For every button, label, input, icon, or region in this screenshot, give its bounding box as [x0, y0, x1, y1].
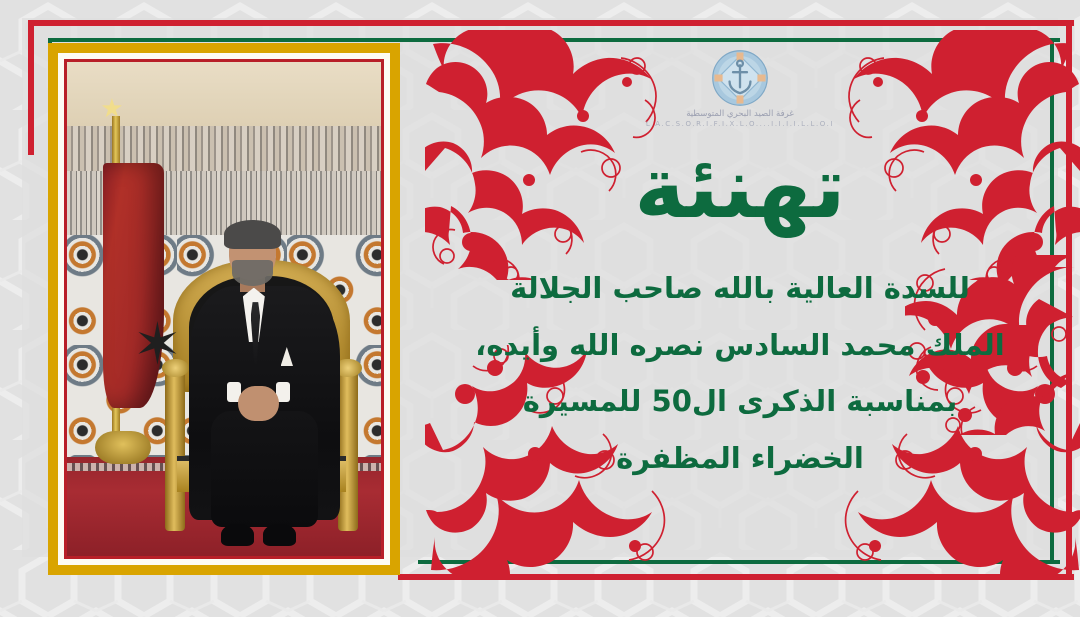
figure-shoe-right	[263, 524, 296, 546]
greeting-line-2: الملك محمد السادس نصره الله وأيده،	[415, 317, 1065, 374]
greeting-line-1: للسدة العالية بالله صاحب الجلالة	[415, 260, 1065, 317]
flag-base	[95, 431, 151, 464]
border-green-top	[48, 38, 1060, 42]
king-mohammed-vi-portrait: ★ ✶	[67, 62, 381, 556]
figure-hair	[224, 220, 281, 249]
border-red-bottom	[398, 574, 1074, 580]
figure-legs	[211, 411, 318, 527]
greeting-card: ★ ✶	[0, 0, 1080, 617]
page-title: تهنئة	[415, 145, 1065, 231]
portrait-liner: ★ ✶	[64, 59, 384, 559]
content-column: غرفة الصيد البحري المتوسطية L.A.C.S.O.R.…	[415, 45, 1065, 565]
border-red-top	[28, 20, 1074, 26]
portrait-mat: ★ ✶	[58, 53, 390, 565]
figure-beard	[232, 260, 273, 286]
portrait-frame: ★ ✶	[48, 43, 400, 575]
border-red-left	[28, 20, 34, 155]
border-red-right	[1066, 20, 1072, 580]
anchor-emblem-icon	[711, 49, 769, 107]
organization-logo: غرفة الصيد البحري المتوسطية L.A.C.S.O.R.…	[625, 49, 855, 128]
flag-cloth: ✶	[103, 163, 165, 408]
moroccan-flag: ★ ✶	[89, 116, 164, 447]
throne-arm-left	[165, 370, 185, 530]
greeting-line-4: الخضراء المظفرة	[415, 430, 1065, 487]
figure-shoe-left	[221, 524, 254, 546]
logo-arabic-name: غرفة الصيد البحري المتوسطية	[625, 109, 855, 119]
greeting-body: للسدة العالية بالله صاحب الجلالة الملك م…	[415, 260, 1065, 486]
flag-pentagram-icon: ✶	[128, 315, 186, 373]
logo-french-name: L.A.C.S.O.R.I.F.I.X.L.O....I.I.I.I.L.L.O…	[625, 120, 855, 128]
figure-clasped-hands	[238, 386, 279, 421]
greeting-line-3: بمناسبة الذكرى ال50 للمسيرة	[415, 373, 1065, 430]
seated-figure	[186, 225, 343, 546]
